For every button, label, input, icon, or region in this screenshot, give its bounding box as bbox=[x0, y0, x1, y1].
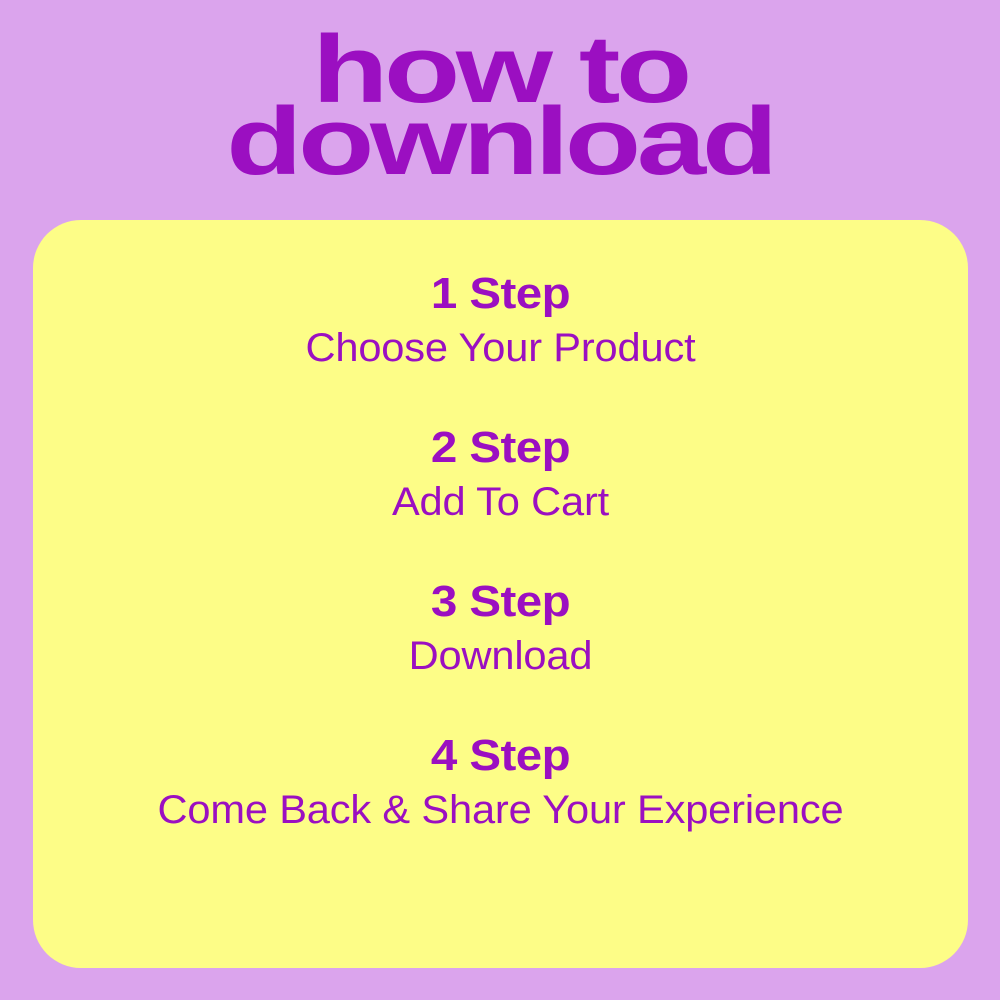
step-item-4: 4 Step Come Back & Share Your Experience bbox=[53, 734, 948, 831]
step-4-heading: 4 Step bbox=[33, 734, 968, 778]
page-title-line-2: download bbox=[0, 98, 1000, 186]
steps-list: 1 Step Choose Your Product 2 Step Add To… bbox=[33, 220, 968, 968]
step-3-heading: 3 Step bbox=[33, 580, 968, 624]
how-to-download-poster: how to download 1 Step Choose Your Produ… bbox=[0, 0, 1000, 1000]
step-item-1: 1 Step Choose Your Product bbox=[53, 272, 948, 369]
step-2-label: Add To Cart bbox=[35, 481, 966, 523]
step-3-label: Download bbox=[35, 635, 966, 677]
steps-card: 1 Step Choose Your Product 2 Step Add To… bbox=[33, 220, 968, 968]
step-2-heading: 2 Step bbox=[33, 426, 968, 470]
step-1-label: Choose Your Product bbox=[35, 327, 966, 369]
step-1-heading: 1 Step bbox=[33, 272, 968, 316]
step-4-label: Come Back & Share Your Experience bbox=[35, 789, 966, 831]
step-item-3: 3 Step Download bbox=[53, 580, 948, 677]
page-title: how to download bbox=[0, 0, 1000, 212]
step-item-2: 2 Step Add To Cart bbox=[53, 426, 948, 523]
